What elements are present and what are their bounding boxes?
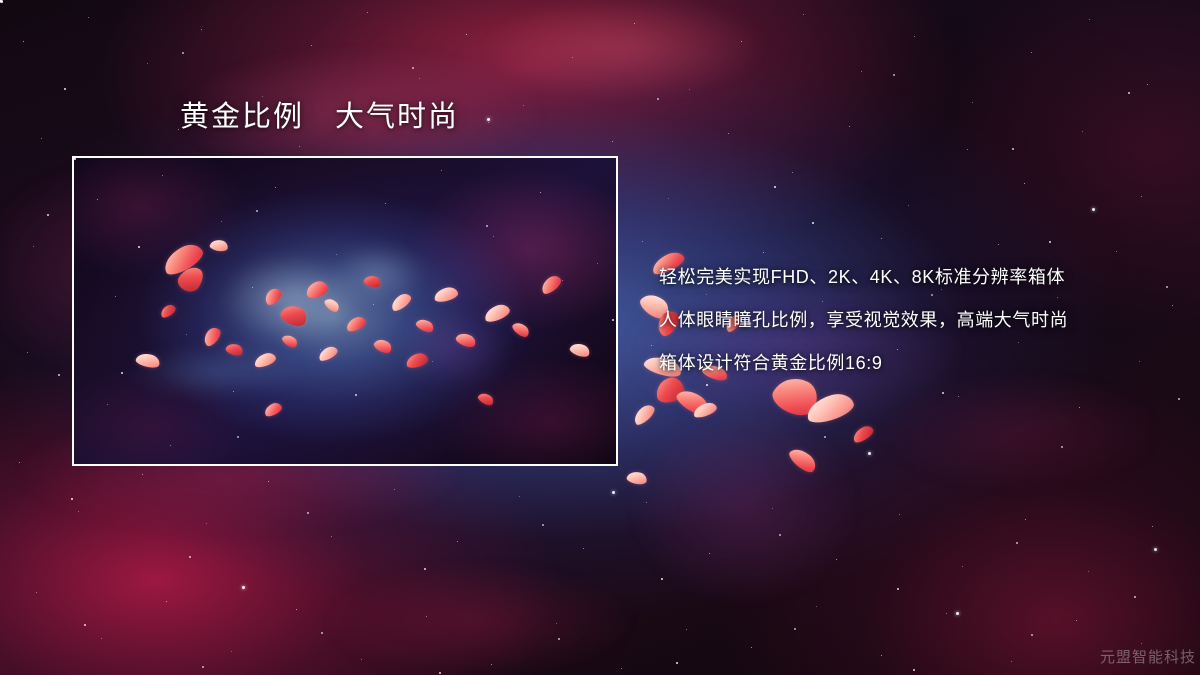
presentation-slide: 黄金比例 大气时尚 轻松完美实现FHD、2K、4K、8K标准分辨率箱体 人体眼睛…: [0, 0, 1200, 675]
body-line-3: 箱体设计符合黄金比例16:9: [659, 342, 1179, 385]
watermark: 元盟智能科技: [1100, 646, 1196, 667]
body-line-2: 人体眼睛瞳孔比例，享受视觉效果，高端大气时尚: [659, 299, 1179, 342]
inner-nebula-wisps: [74, 158, 616, 464]
framed-image: [72, 156, 618, 466]
page-title: 黄金比例 大气时尚: [180, 103, 459, 132]
body-line-1: 轻松完美实现FHD、2K、4K、8K标准分辨率箱体: [659, 256, 1179, 299]
body-text-block: 轻松完美实现FHD、2K、4K、8K标准分辨率箱体 人体眼睛瞳孔比例，享受视觉效…: [659, 256, 1179, 385]
